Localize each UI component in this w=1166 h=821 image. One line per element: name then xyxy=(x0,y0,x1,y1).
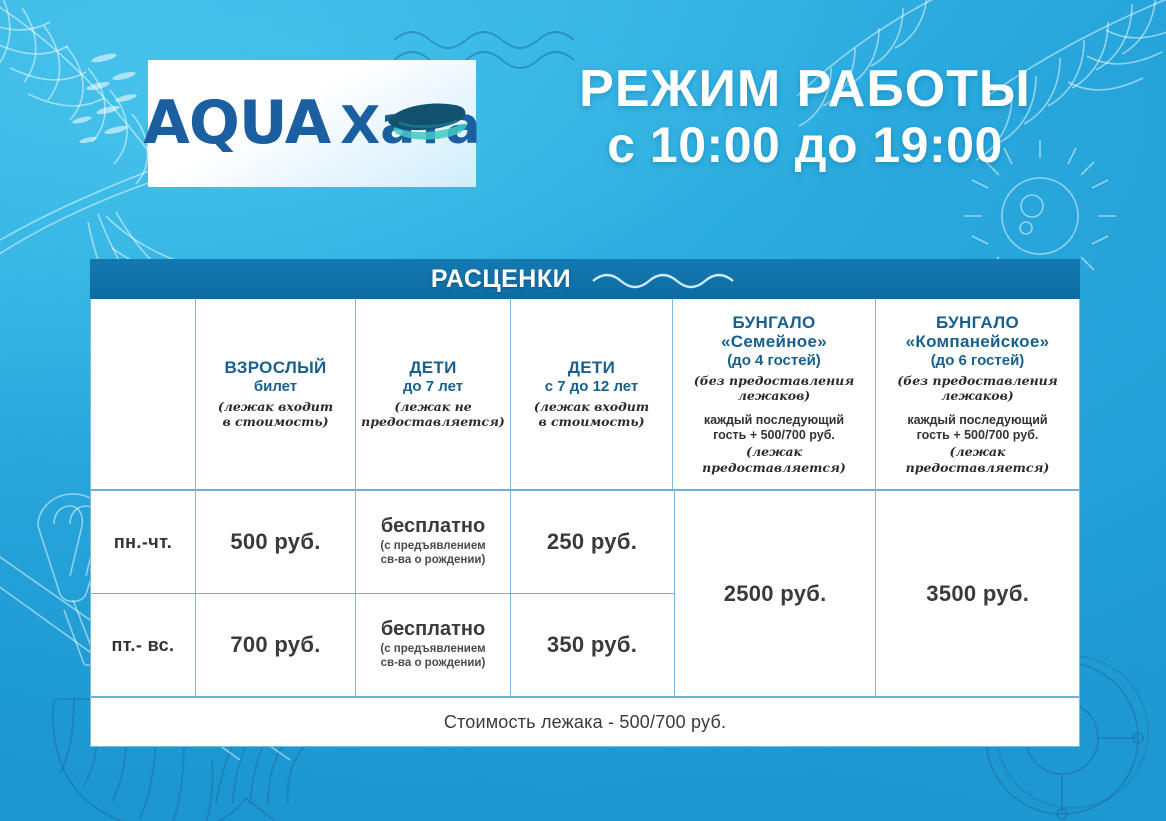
row-day-label: пн.-чт. xyxy=(91,491,196,593)
table-banner-title: РАСЦЕНКИ xyxy=(431,265,571,294)
column-note: (без предоставления лежаков) xyxy=(694,373,854,404)
headline-line2: с 10:00 до 19:00 xyxy=(545,117,1065,173)
cell-adult-price: 700 руб. xyxy=(196,594,356,696)
table-grid: ВЗРОСЛЫЙ билет (лежак входит в стоимость… xyxy=(90,299,1080,747)
table-row: пт.- вс. 700 руб. бесплатно (с предъявле… xyxy=(91,594,674,696)
logo: AQUA Хата xyxy=(148,60,476,187)
column-capacity: (до 6 гостей) xyxy=(931,352,1025,370)
price-text: 250 руб. xyxy=(547,529,637,555)
table-footer: Стоимость лежака - 500/700 руб. xyxy=(91,696,1079,746)
column-note: (лежак не предоставляется) xyxy=(361,399,505,430)
column-title: БУНГАЛО xyxy=(936,313,1019,333)
cell-child-under7-price: бесплатно (с предъявлением св-ва о рожде… xyxy=(356,594,511,696)
price-note: (с предъявлением св-ва о рождении) xyxy=(380,643,485,671)
fish-dashes-icon xyxy=(48,48,138,158)
column-header-child-under7: ДЕТИ до 7 лет (лежак не предоставляется) xyxy=(356,299,511,489)
table-body-left: пн.-чт. 500 руб. бесплатно (с предъявлен… xyxy=(91,491,674,696)
column-header-adult: ВЗРОСЛЫЙ билет (лежак входит в стоимость… xyxy=(196,299,356,489)
cell-child-under7-price: бесплатно (с предъявлением св-ва о рожде… xyxy=(356,491,511,593)
column-capacity: (до 4 гостей) xyxy=(727,352,821,370)
column-note: (лежак входит в стоимость) xyxy=(534,399,649,430)
headline-line1: РЕЖИМ РАБОТЫ xyxy=(545,62,1065,117)
column-title: БУНГАЛО xyxy=(733,313,816,333)
price-text: 2500 руб. xyxy=(724,581,827,607)
footer-text: Стоимость лежака - 500/700 руб. xyxy=(444,712,726,733)
column-header-bungalow-company: БУНГАЛО «Компанейское» (до 6 гостей) (бе… xyxy=(876,299,1079,489)
column-subtitle: билет xyxy=(254,378,297,396)
column-subtitle: «Семейное» xyxy=(721,332,827,352)
logo-primary-text: AQUA xyxy=(143,95,330,152)
cell-adult-price: 500 руб. xyxy=(196,491,356,593)
cell-child-7-12-price: 350 руб. xyxy=(511,594,673,696)
column-note: (без предоставления лежаков) xyxy=(897,373,1057,404)
column-subtitle: до 7 лет xyxy=(403,378,463,396)
table-header-corner xyxy=(91,299,196,489)
wave-brushstroke-icon xyxy=(385,99,471,145)
table-header-row: ВЗРОСЛЫЙ билет (лежак входит в стоимость… xyxy=(91,299,1079,491)
table-body: пн.-чт. 500 руб. бесплатно (с предъявлен… xyxy=(91,491,1079,696)
column-extra-guest-note: каждый последующий гость + 500/700 руб. xyxy=(907,413,1047,443)
day-text: пн.-чт. xyxy=(114,532,172,553)
price-note: (с предъявлением св-ва о рождении) xyxy=(380,540,485,568)
price-text: 500 руб. xyxy=(230,529,320,555)
column-title: ДЕТИ xyxy=(409,358,456,378)
column-title: ВЗРОСЛЫЙ xyxy=(224,358,326,378)
wavy-line-icon xyxy=(589,267,739,291)
price-text: 350 руб. xyxy=(547,632,637,658)
price-text: бесплатно xyxy=(381,516,485,537)
column-title: ДЕТИ xyxy=(568,358,615,378)
column-header-bungalow-family: БУНГАЛО «Семейное» (до 4 гостей) (без пр… xyxy=(673,299,876,489)
table-banner: РАСЦЕНКИ xyxy=(90,259,1080,299)
column-subtitle: с 7 до 12 лет xyxy=(545,378,639,396)
column-note: (лежак входит в стоимость) xyxy=(218,399,333,430)
cell-bungalow-family-price: 2500 руб. xyxy=(674,491,877,696)
headline: РЕЖИМ РАБОТЫ с 10:00 до 19:00 xyxy=(545,62,1065,173)
price-table: РАСЦЕНКИ ВЗРОСЛЫЙ билет (лежак входит в … xyxy=(90,259,1080,747)
column-extra-guest-italic: (лежак предоставляется) xyxy=(679,444,869,475)
table-row: пн.-чт. 500 руб. бесплатно (с предъявлен… xyxy=(91,491,674,594)
column-extra-guest-note: каждый последующий гость + 500/700 руб. xyxy=(704,413,844,443)
cell-bungalow-company-price: 3500 руб. xyxy=(876,491,1079,696)
column-header-child-7-12: ДЕТИ с 7 до 12 лет (лежак входит в стоим… xyxy=(511,299,673,489)
column-extra-guest-italic: (лежак предоставляется) xyxy=(882,444,1073,475)
price-text: бесплатно xyxy=(381,619,485,640)
column-subtitle: «Компанейское» xyxy=(906,332,1050,352)
day-text: пт.- вс. xyxy=(112,635,175,656)
cell-child-7-12-price: 250 руб. xyxy=(511,491,673,593)
price-text: 700 руб. xyxy=(230,632,320,658)
price-text: 3500 руб. xyxy=(926,581,1029,607)
row-day-label: пт.- вс. xyxy=(91,594,196,696)
